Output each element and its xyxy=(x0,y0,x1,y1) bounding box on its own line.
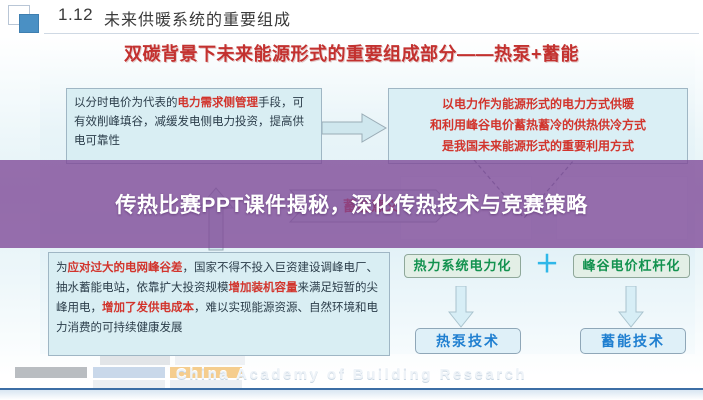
header-section-title: 未来供暖系统的重要组成 xyxy=(104,6,291,30)
tag-heat-pump-technology: 热泵技术 xyxy=(415,328,521,354)
overlay-caption-text: 传热比赛PPT课件揭秘，深化传热技术与竞赛策略 xyxy=(0,164,703,246)
panel-right-line-2: 和利用峰谷电价蓄热蓄冷的供热供冷方式 xyxy=(396,115,680,136)
panel-peak-valley-gap: 为应对过大的电网峰谷差，国家不得不投入巨资建设调峰电厂、抽水蓄能电站，依靠扩大投… xyxy=(48,252,390,356)
tag-peak-valley-price-leverage: 峰谷电价杠杆化 xyxy=(573,254,690,278)
header-section-number: 1.12 xyxy=(58,5,93,25)
plus-icon: ＋ xyxy=(533,252,561,280)
header-divider xyxy=(44,33,699,34)
footer-watermark: China Academy of Building Research xyxy=(0,366,703,383)
panel-demand-side-management: 以分时电价为代表的电力需求侧管理手段，可有效削峰填谷，减缓发电侧电力投资，提高供… xyxy=(66,88,322,164)
panel-bottom-highlight-3: 增加了发供电成本 xyxy=(102,302,194,314)
page-title: 双碳背景下未来能源形式的重要组成部分——热泵+蓄能 xyxy=(0,40,703,66)
arrow-down-icon-right xyxy=(618,286,644,328)
panel-right-line-1: 以电力作为能源形式的电力方式供暖 xyxy=(396,94,680,115)
slide-header: 1.12 未来供暖系统的重要组成 xyxy=(0,0,703,36)
header-icon-group xyxy=(8,5,42,33)
panel-right-line-3: 是我国未来能源形式的重要利用方式 xyxy=(396,136,680,157)
square-filled-icon xyxy=(19,14,39,33)
panel-left-highlight-1: 电力需求侧管理 xyxy=(178,97,259,109)
panel-bottom-text-1: 为 xyxy=(56,262,68,274)
panel-future-energy-form: 以电力作为能源形式的电力方式供暖 和利用峰谷电价蓄热蓄冷的供热供冷方式 是我国未… xyxy=(388,88,688,164)
panel-left-text-a: 以分时电价为代表的 xyxy=(74,97,178,109)
tag-energy-storage-technology: 蓄能技术 xyxy=(580,328,686,354)
tag-thermal-system-electrification: 热力系统电力化 xyxy=(404,254,521,278)
panel-bottom-highlight-1: 应对过大的电网峰谷差 xyxy=(68,262,183,274)
panel-left-text-b: 手段， xyxy=(258,97,293,109)
slide-root: 1.12 未来供暖系统的重要组成 双碳背景下未来能源形式的重要组成部分——热泵+… xyxy=(0,0,703,400)
arrow-down-icon-left xyxy=(448,286,474,328)
footer-divider xyxy=(0,388,703,390)
panel-bottom-highlight-2: 增加装机容量 xyxy=(229,282,298,294)
footer-band xyxy=(0,390,703,400)
arrow-right-icon xyxy=(322,112,388,144)
